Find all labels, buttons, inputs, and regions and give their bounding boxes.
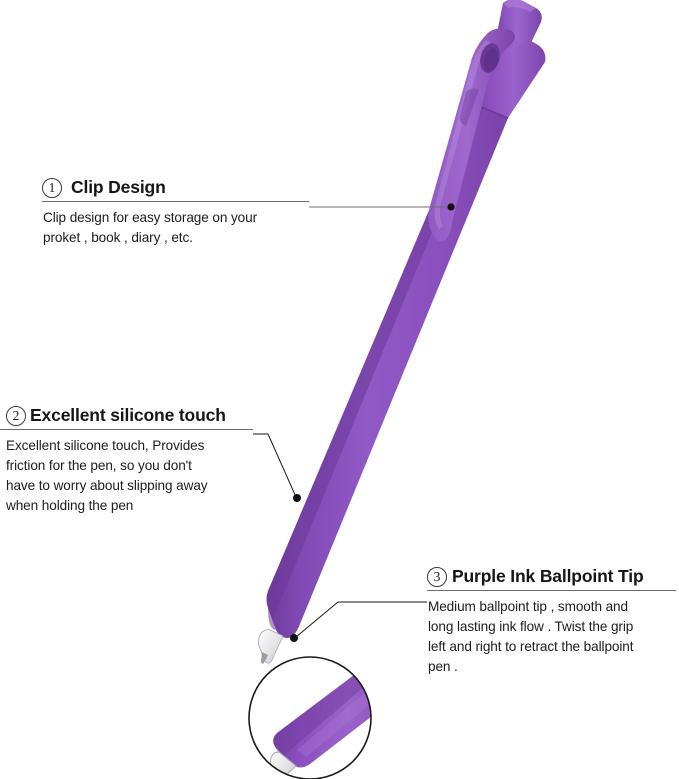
callout-2-line-2: friction for the pen, so you don't bbox=[6, 456, 253, 476]
callout-ballpoint-tip: 3 Purple Ink Ballpoint Tip Medium ballpo… bbox=[427, 566, 676, 677]
callout-1-header: 1 Clip Design bbox=[42, 177, 309, 198]
callout-2-title: Excellent silicone touch bbox=[30, 405, 226, 426]
callout-3-number-badge: 3 bbox=[427, 567, 447, 587]
callout-silicone-touch: 2 Excellent silicone touch Excellent sil… bbox=[6, 405, 253, 516]
callout-1-divider bbox=[42, 201, 309, 202]
callout-1-title: Clip Design bbox=[71, 177, 166, 198]
callout-2-description: Excellent silicone touch, Provides frict… bbox=[6, 436, 253, 516]
callout-2-line-3: have to worry about slipping away bbox=[6, 476, 253, 496]
callout-2-number-badge: 2 bbox=[6, 406, 26, 426]
callout-2-line-1: Excellent silicone touch, Provides bbox=[6, 436, 253, 456]
callout-2-divider bbox=[0, 429, 253, 430]
pen-body bbox=[258, 0, 545, 664]
callout-3-line-1: Medium ballpoint tip , smooth and bbox=[428, 597, 676, 617]
callout-3-line-3: left and right to retract the ballpoint bbox=[428, 637, 676, 657]
callout-3-description: Medium ballpoint tip , smooth and long l… bbox=[428, 597, 676, 677]
callout-2-line-4: when holding the pen bbox=[6, 496, 253, 516]
product-infographic: 1 Clip Design Clip design for easy stora… bbox=[0, 0, 679, 779]
callout-2-header: 2 Excellent silicone touch bbox=[6, 405, 253, 426]
callout-3-line-4: pen . bbox=[428, 657, 676, 677]
callout-3-title: Purple Ink Ballpoint Tip bbox=[452, 566, 644, 587]
callout-1-line-2: proket , book , diary , etc. bbox=[43, 228, 309, 248]
callout-3-line-2: long lasting ink flow . Twist the grip bbox=[428, 617, 676, 637]
callout-clip-design: 1 Clip Design Clip design for easy stora… bbox=[42, 177, 309, 248]
callout-1-line-1: Clip design for easy storage on your bbox=[43, 208, 309, 228]
callout-1-description: Clip design for easy storage on your pro… bbox=[43, 208, 309, 248]
callout-1-number-badge: 1 bbox=[42, 178, 62, 198]
callout-3-header: 3 Purple Ink Ballpoint Tip bbox=[427, 566, 676, 587]
magnifier-inset bbox=[249, 648, 424, 779]
callout-3-divider bbox=[427, 590, 676, 591]
